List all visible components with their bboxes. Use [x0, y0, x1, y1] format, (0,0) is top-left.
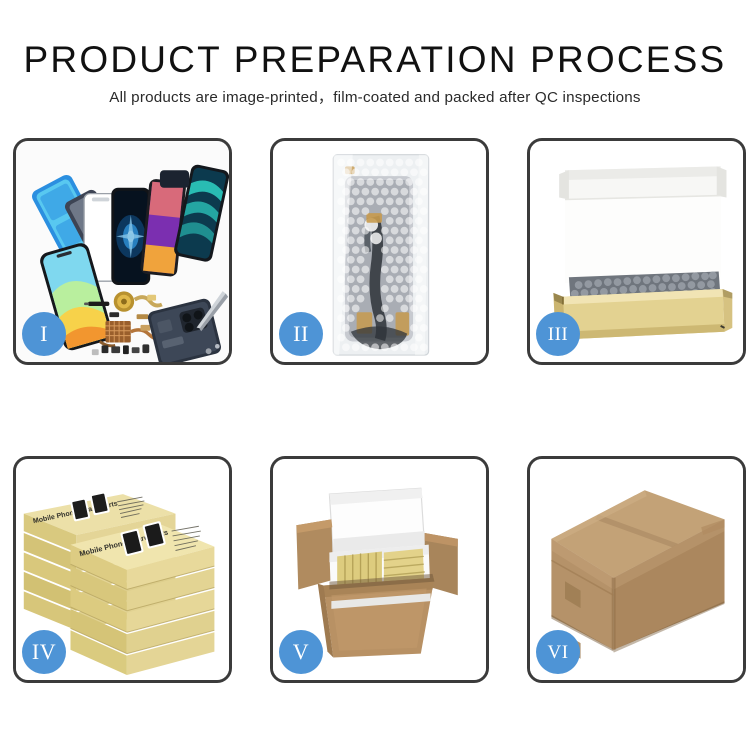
process-step-panel-4: Mobile Phone Spare Parts: [13, 456, 232, 683]
step-badge-4: IV: [22, 630, 66, 674]
step-badge-6: VI: [536, 630, 580, 674]
step-badge-1: I: [22, 312, 66, 356]
product-preparation-infographic: PRODUCT PREPARATION PROCESS All products…: [0, 0, 750, 750]
process-step-panel-1: I: [13, 138, 232, 365]
step-badge-3: III: [536, 312, 580, 356]
step-badge-5: V: [279, 630, 323, 674]
process-steps-grid: I: [13, 138, 737, 683]
step-badge-2: II: [279, 312, 323, 356]
process-step-panel-5: V: [270, 456, 489, 683]
page-title: PRODUCT PREPARATION PROCESS: [0, 40, 750, 80]
process-step-panel-2: II: [270, 138, 489, 365]
page-subtitle: All products are image-printed，film-coat…: [0, 88, 750, 108]
process-step-panel-3: III: [527, 138, 746, 365]
process-step-panel-6: VI: [527, 456, 746, 683]
